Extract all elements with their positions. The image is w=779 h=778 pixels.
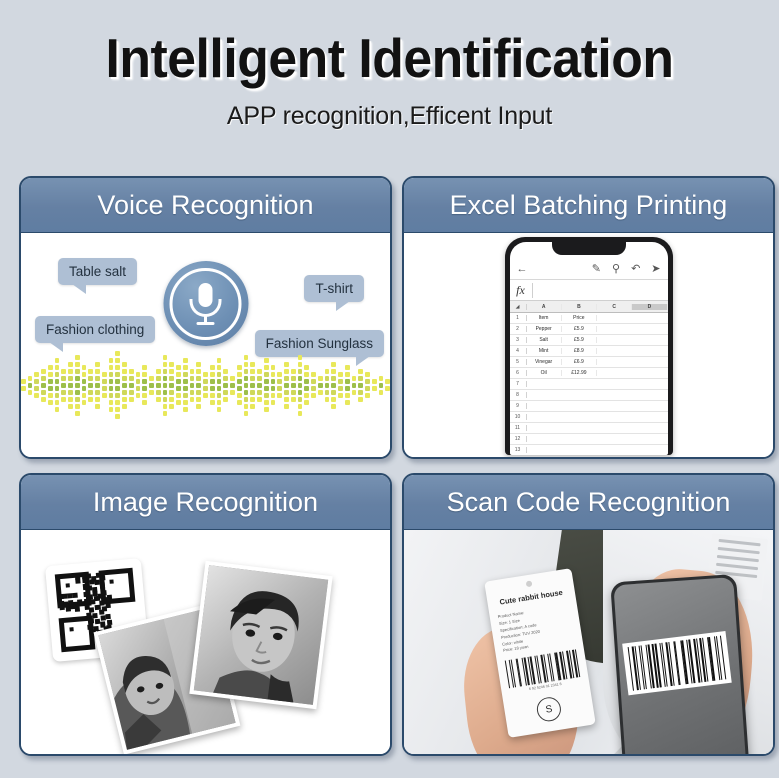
waveform-bar	[34, 372, 39, 398]
excel-toolbar: ← ✎ ⚲ ↶ ➤	[510, 259, 668, 280]
waveform-bar	[156, 369, 161, 402]
excel-column-C[interactable]: C	[597, 304, 632, 310]
waveform-bar	[223, 369, 228, 402]
waveform-bar	[244, 355, 249, 416]
excel-row[interactable]: 3Salt£5.9	[510, 335, 668, 346]
card-title-excel: Excel Batching Printing	[450, 190, 728, 221]
excel-formula-bar[interactable]: fx	[510, 280, 668, 301]
microphone-button[interactable]	[163, 261, 248, 346]
waveform-bar	[338, 372, 343, 398]
excel-row[interactable]: 9	[510, 401, 668, 412]
poster-header: Intelligent Identification APP recogniti…	[0, 0, 779, 131]
waveform-bar	[183, 358, 188, 412]
waveform-bar	[264, 358, 269, 412]
excel-column-B[interactable]: B	[562, 304, 597, 310]
excel-cell-B2[interactable]: £5.9	[562, 326, 597, 332]
waveform-bar	[284, 362, 289, 409]
page-title: Intelligent Identification	[23, 30, 755, 88]
waveform-bar	[82, 365, 87, 405]
excel-row-header[interactable]: 6	[510, 370, 527, 376]
search-icon[interactable]: ⚲	[612, 264, 620, 275]
excel-row[interactable]: 12	[510, 434, 668, 445]
scanner-screen	[613, 577, 746, 754]
qr-module	[59, 605, 64, 610]
waveform-bar	[129, 369, 134, 402]
excel-row[interactable]: 8	[510, 390, 668, 401]
scan-photo-scene: Cute rabbit house Product Name:Size: 1 S…	[404, 530, 773, 754]
excel-row[interactable]: 6Oil£12.99	[510, 368, 668, 379]
waveform-bar	[95, 362, 100, 409]
card-image-recognition[interactable]: Image Recognition	[19, 473, 392, 756]
qr-module	[75, 579, 80, 584]
phone-mockup-excel: Price list.xlsx - Excel ← ✎ ⚲ ↶ ➤	[505, 237, 673, 455]
waveform-bar	[115, 351, 120, 419]
waveform-bar	[365, 372, 370, 398]
waveform-bar	[379, 376, 384, 395]
excel-row-header[interactable]: 12	[510, 436, 527, 442]
waveform-bar	[331, 362, 336, 409]
microphone-icon	[163, 261, 248, 346]
waveform-bar	[55, 358, 60, 412]
card-voice-recognition[interactable]: Voice Recognition Table salt T-shirt Fas…	[19, 176, 392, 459]
formula-fx-label: fx	[510, 283, 533, 298]
waveform-bar	[176, 365, 181, 405]
qr-module	[77, 599, 82, 604]
excel-row-header[interactable]: 13	[510, 447, 527, 453]
excel-cell-A4[interactable]: Mint	[527, 348, 562, 354]
card-scan-code-recognition[interactable]: Scan Code Recognition Cute rabbit house …	[402, 473, 775, 756]
qr-module	[101, 615, 106, 620]
waveform-bar	[196, 362, 201, 409]
poster-root: Intelligent Identification APP recogniti…	[0, 0, 779, 778]
tag-size-badge: S	[535, 696, 562, 723]
excel-row-header[interactable]: 3	[510, 337, 527, 343]
excel-row[interactable]: 1ItemPrice	[510, 313, 668, 324]
waveform-bar	[163, 355, 168, 416]
speech-bubble-t-shirt: T-shirt	[304, 275, 364, 302]
waveform-bar	[304, 365, 309, 405]
waveform-bar	[385, 379, 390, 391]
card-excel-batching-printing[interactable]: Excel Batching Printing Price list.xlsx …	[402, 176, 775, 459]
excel-cell-A5[interactable]: Vinegar	[527, 359, 562, 365]
qr-module	[83, 598, 88, 603]
card-body-voice: Table salt T-shirt Fashion clothing Fash…	[21, 233, 390, 457]
excel-cell-A3[interactable]: Salt	[527, 337, 562, 343]
waveform-bar	[318, 376, 323, 395]
qr-module	[104, 596, 109, 601]
waveform-bar	[190, 369, 195, 402]
back-arrow-icon[interactable]: ←	[517, 264, 528, 275]
waveform-bar	[142, 365, 147, 405]
excel-cell-B6[interactable]: £12.99	[562, 370, 597, 376]
excel-column-A[interactable]: A	[527, 304, 562, 310]
excel-row-header[interactable]: 7	[510, 381, 527, 387]
waveform-bar	[68, 362, 73, 409]
qr-module	[86, 612, 91, 617]
qr-module	[75, 607, 80, 612]
waveform-bar	[372, 379, 377, 391]
phone-mockup-scanner[interactable]	[610, 574, 750, 754]
qr-module	[72, 593, 77, 598]
excel-spreadsheet-grid[interactable]: ◢ABCD1ItemPrice2Pepper£5.93Salt£5.94Mint…	[510, 301, 668, 455]
excel-row[interactable]: 7	[510, 379, 668, 390]
card-body-excel: Price list.xlsx - Excel ← ✎ ⚲ ↶ ➤	[404, 233, 773, 457]
card-header-voice: Voice Recognition	[21, 178, 390, 233]
portrait-illustration-b	[194, 565, 328, 705]
qr-module	[106, 603, 111, 608]
excel-row-header[interactable]: 5	[510, 359, 527, 365]
excel-row[interactable]: 5Vinegar£6.9	[510, 357, 668, 368]
card-header-image: Image Recognition	[21, 475, 390, 530]
excel-row-header[interactable]: 4	[510, 348, 527, 354]
excel-row-header[interactable]: 8	[510, 392, 527, 398]
waveform-bar	[21, 379, 26, 391]
scanned-barcode-icon	[622, 631, 732, 695]
qr-module	[82, 578, 87, 583]
pen-icon[interactable]: ✎	[592, 264, 601, 275]
card-title-image: Image Recognition	[93, 487, 318, 518]
waveform-bar	[41, 369, 46, 402]
excel-row[interactable]: 4Mint£8.9	[510, 346, 668, 357]
select-all-corner[interactable]: ◢	[510, 304, 527, 310]
excel-cell-B4[interactable]: £8.9	[562, 348, 597, 354]
card-header-excel: Excel Batching Printing	[404, 178, 773, 233]
tag-hole	[526, 580, 533, 587]
waveform-bar	[298, 355, 303, 416]
excel-column-D[interactable]: D	[632, 304, 667, 310]
card-body-scan: Cute rabbit house Product Name:Size: 1 S…	[404, 530, 773, 754]
excel-row[interactable]: 11	[510, 423, 668, 434]
tag-spec-lines: Product Name:Size: 1 SizeSpecification: …	[497, 603, 574, 655]
waveform-bar	[217, 358, 222, 412]
excel-row[interactable]: 10	[510, 412, 668, 423]
waveform-bar	[109, 358, 114, 412]
feature-card-grid: Voice Recognition Table salt T-shirt Fas…	[19, 176, 760, 756]
phone-notch	[552, 242, 626, 255]
qr-module	[99, 609, 104, 614]
waveform-bar	[230, 376, 235, 395]
excel-row[interactable]: 13	[510, 445, 668, 455]
page-subtitle: APP recognition,Efficent Input	[0, 102, 779, 131]
waveform-bar	[352, 376, 357, 395]
waveform-bar	[48, 365, 53, 405]
excel-row-header[interactable]: 10	[510, 414, 527, 420]
waveform-bar	[169, 362, 174, 409]
waveform-bar	[75, 355, 80, 416]
waveform-bar	[250, 362, 255, 409]
waveform-bar	[136, 372, 141, 398]
speech-bubble-table-salt: Table salt	[58, 258, 137, 285]
qr-module	[99, 583, 104, 588]
excel-cell-A6[interactable]: Oil	[527, 370, 562, 376]
excel-row-header[interactable]: 11	[510, 425, 527, 431]
waveform-bar	[102, 372, 107, 398]
qr-module	[88, 618, 93, 623]
excel-cell-B3[interactable]: £5.9	[562, 337, 597, 343]
waveform-bar	[345, 365, 350, 405]
waveform-bar	[210, 365, 215, 405]
waveform-bar	[325, 369, 330, 402]
waveform-bar	[257, 369, 262, 402]
qr-module	[100, 575, 105, 580]
undo-icon[interactable]: ↶	[631, 264, 640, 275]
waveform-bar	[88, 369, 93, 402]
audio-waveform	[21, 339, 390, 431]
waveform-bar	[311, 372, 316, 398]
card-body-image	[21, 530, 390, 754]
waveform-bar	[122, 362, 127, 409]
excel-cell-A1[interactable]: Item	[527, 315, 562, 321]
excel-row-header[interactable]: 1	[510, 315, 527, 321]
excel-cell-B1[interactable]: Price	[562, 315, 597, 321]
excel-column-header-row: ◢ABCD	[510, 301, 668, 313]
waveform-bar	[291, 369, 296, 402]
card-title-voice: Voice Recognition	[97, 190, 313, 221]
card-header-scan: Scan Code Recognition	[404, 475, 773, 530]
waveform-bar	[149, 376, 154, 395]
excel-row[interactable]: 2Pepper£5.9	[510, 324, 668, 335]
waveform-bar	[277, 372, 282, 398]
waveform-bar	[61, 369, 66, 402]
excel-cell-A2[interactable]: Pepper	[527, 326, 562, 332]
formula-input[interactable]	[533, 280, 668, 300]
waveform-bar	[237, 365, 242, 405]
excel-row-header[interactable]: 9	[510, 403, 527, 409]
waveform-bar	[28, 376, 33, 395]
photo-boy-portrait	[189, 561, 332, 710]
waveform-bar	[271, 365, 276, 405]
excel-cell-B5[interactable]: £6.9	[562, 359, 597, 365]
waveform-bar	[358, 369, 363, 402]
waveform-bar	[203, 372, 208, 398]
share-icon[interactable]: ➤	[651, 264, 660, 275]
card-title-scan: Scan Code Recognition	[447, 487, 731, 518]
excel-row-header[interactable]: 2	[510, 326, 527, 332]
